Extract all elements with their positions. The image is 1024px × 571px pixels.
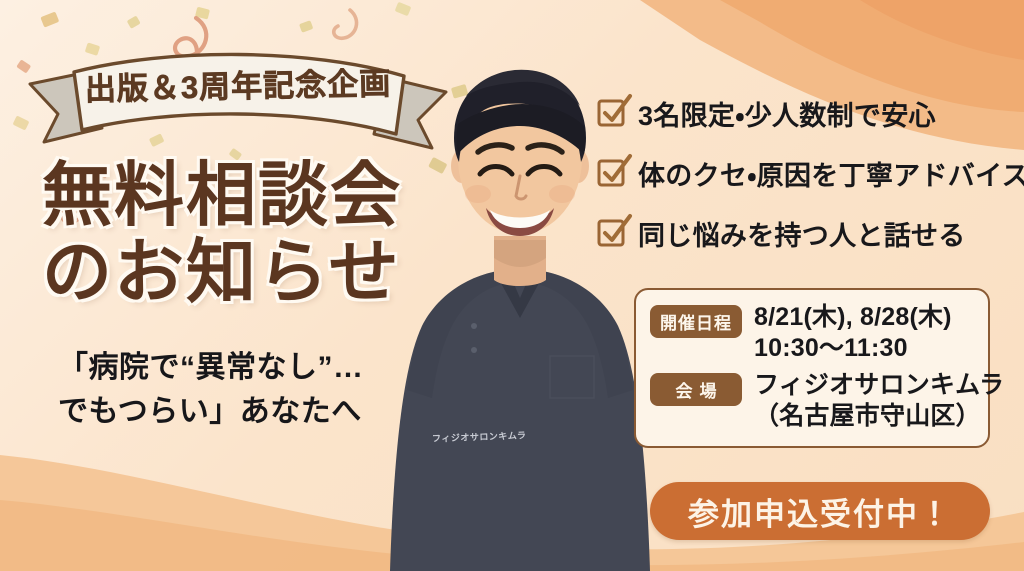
info-row-schedule: 開催日程 8/21(木), 8/28(木) 10:30〜11:30 <box>650 302 974 364</box>
checkbox-checked-glyph <box>596 213 634 247</box>
checklist-item: 同じ悩みを持つ人と話せる <box>598 208 1014 258</box>
cheek-left <box>465 185 491 203</box>
scrub-button <box>471 323 477 329</box>
benefits-checklist: 3名限定・少人数制で安心 体のクセ・原因を丁寧アドバイス 同じ悩みを持つ人と話せ… <box>598 88 1014 268</box>
checkbox-checked-icon <box>598 100 624 126</box>
checklist-item-label: 体のクセ・原因を丁寧アドバイス <box>638 154 1024 193</box>
confetti-square <box>127 16 141 29</box>
venue-value: フィジオサロンキムラ （名古屋市守山区） <box>754 370 1004 432</box>
apply-now-button[interactable]: 参加申込受付中！ <box>650 482 990 540</box>
promo-banner: 出版＆3周年記念企画 無料相談会 のお知らせ 「病院で“異常なし”… でもつらい… <box>0 0 1024 571</box>
schedule-value: 8/21(木), 8/28(木) 10:30〜11:30 <box>754 302 952 364</box>
checkbox-checked-glyph <box>596 93 634 127</box>
checkbox-checked-icon <box>598 160 624 186</box>
schedule-dates: 8/21(木), 8/28(木) <box>754 302 952 333</box>
scrub-button <box>471 347 477 353</box>
checkbox-checked-glyph <box>596 153 634 187</box>
schedule-label: 開催日程 <box>650 305 742 338</box>
checklist-item: 体のクセ・原因を丁寧アドバイス <box>598 148 1014 198</box>
confetti-square <box>13 115 30 130</box>
checklist-item: 3名限定・少人数制で安心 <box>598 88 1014 138</box>
checklist-item-label: 同じ悩みを持つ人と話せる <box>638 214 966 253</box>
confetti-square <box>40 11 59 27</box>
info-row-venue: 会場 フィジオサロンキムラ （名古屋市守山区） <box>650 370 974 432</box>
event-info-box: 開催日程 8/21(木), 8/28(木) 10:30〜11:30 会場 フィジ… <box>634 288 990 448</box>
venue-area: （名古屋市守山区） <box>754 401 1004 432</box>
confetti-streamer <box>334 10 357 38</box>
confetti-square <box>395 2 412 17</box>
schedule-time: 10:30〜11:30 <box>754 333 952 364</box>
confetti-square <box>299 20 313 33</box>
checklist-item-label: 3名限定・少人数制で安心 <box>638 94 936 133</box>
checkbox-checked-icon <box>598 220 624 246</box>
venue-label: 会場 <box>650 373 742 406</box>
venue-name: フィジオサロンキムラ <box>754 370 1004 401</box>
cheek-right <box>549 185 575 203</box>
